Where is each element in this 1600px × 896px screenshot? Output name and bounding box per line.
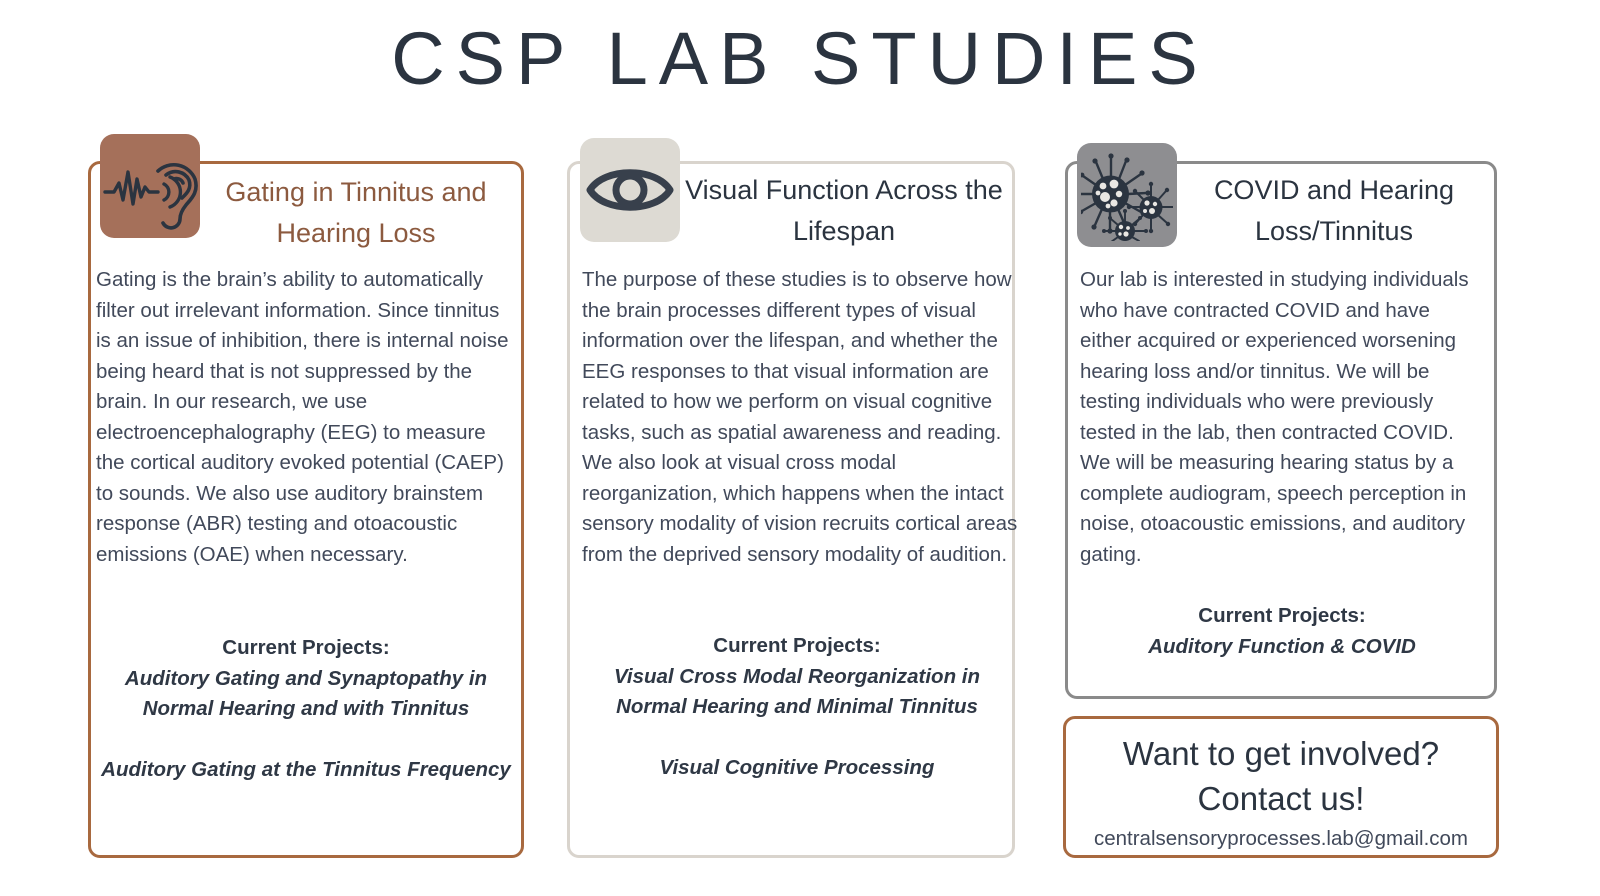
project-item: Auditory Function & COVID [1080, 632, 1484, 663]
projects-label: Current Projects: [582, 631, 1012, 662]
current-projects-gating: Current Projects: Auditory Gating and Sy… [96, 633, 516, 785]
eye-icon [580, 138, 680, 242]
card-title-visual: Visual Function Across the Lifespan [684, 170, 1004, 252]
contact-box[interactable]: Want to get involved? Contact us! centra… [1063, 716, 1499, 858]
ear-sound-wave-icon [100, 134, 200, 238]
poster-page: CSP LAB STUDIES Gating in Tinnitus and H… [0, 0, 1600, 896]
card-body-covid: Our lab is interested in studying indivi… [1080, 265, 1484, 570]
contact-heading-line1: Want to get involved? [1066, 731, 1496, 776]
current-projects-visual: Current Projects: Visual Cross Modal Reo… [582, 631, 1012, 783]
project-item: Visual Cognitive Processing [582, 753, 1012, 784]
card-title-covid: COVID and Hearing Loss/Tinnitus [1182, 170, 1486, 252]
contact-heading-line2: Contact us! [1066, 776, 1496, 821]
project-item: Auditory Gating and Synaptopathy in Norm… [96, 664, 516, 725]
spacer [96, 725, 516, 755]
page-title: CSP LAB STUDIES [0, 16, 1600, 101]
current-projects-covid: Current Projects: Auditory Function & CO… [1080, 601, 1484, 662]
projects-label: Current Projects: [1080, 601, 1484, 632]
projects-label: Current Projects: [96, 633, 516, 664]
project-item: Auditory Gating at the Tinnitus Frequenc… [96, 755, 516, 786]
card-body-gating: Gating is the brain’s ability to automat… [96, 265, 516, 570]
card-title-gating: Gating in Tinnitus and Hearing Loss [200, 172, 512, 254]
contact-email[interactable]: centralsensoryprocesses.lab@gmail.com [1066, 827, 1496, 851]
spacer [582, 723, 1012, 753]
project-item: Visual Cross Modal Reorganization in Nor… [582, 662, 1012, 723]
virus-icon [1077, 143, 1177, 247]
card-body-visual: The purpose of these studies is to obser… [582, 265, 1020, 570]
